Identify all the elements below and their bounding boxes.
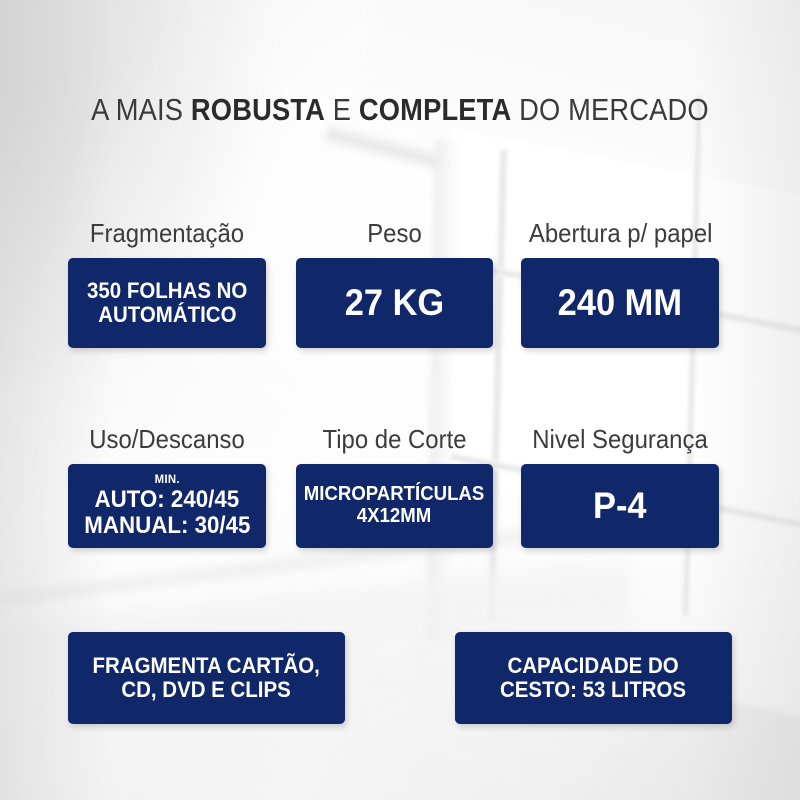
content-layer: A MAIS ROBUSTA E COMPLETA DO MERCADO Fra… — [0, 0, 800, 800]
spec-cell-nivel-seguranca: Nivel Segurança P-4 — [521, 424, 719, 548]
spec-chip-abertura-papel: 240 MM — [521, 258, 719, 348]
spec-cell-fragmenta-cartao: FRAGMENTA CARTÃO, CD, DVD E CLIPS — [68, 632, 345, 724]
spec-chip-peso: 27 KG — [296, 258, 493, 348]
spec-cell-peso: Peso 27 KG — [296, 218, 493, 348]
spec-chip-line: FRAGMENTA CARTÃO, — [93, 654, 320, 678]
spec-chip-line: 4X12MM — [357, 506, 431, 528]
spec-chip-line: AUTOMÁTICO — [98, 303, 236, 327]
spec-cell-capacidade-cesto: CAPACIDADE DO CESTO: 53 LITROS — [455, 632, 732, 724]
spec-chip-line: AUTO: 240/45 — [95, 487, 240, 513]
spec-chip-tipo-de-corte: MICROPARTÍCULAS 4X12MM — [296, 464, 493, 548]
spec-label-peso: Peso — [304, 218, 485, 249]
headline-part-2: ROBUSTA — [191, 92, 325, 127]
spec-chip-line: 240 MM — [558, 283, 682, 323]
spec-chip-line: 27 KG — [345, 283, 444, 323]
spec-cell-tipo-de-corte: Tipo de Corte MICROPARTÍCULAS 4X12MM — [296, 424, 493, 548]
spec-chip-line: CAPACIDADE DO — [508, 654, 679, 678]
spec-chip-fragmenta-cartao: FRAGMENTA CARTÃO, CD, DVD E CLIPS — [68, 632, 345, 724]
spec-chip-line: MICROPARTÍCULAS — [304, 484, 484, 506]
spec-label-uso-descanso: Uso/Descanso — [76, 424, 258, 455]
spec-label-tipo-de-corte: Tipo de Corte — [304, 424, 485, 455]
spec-chip-nivel-seguranca: P-4 — [521, 464, 719, 548]
spec-label-nivel-seguranca: Nivel Segurança — [529, 424, 711, 455]
spec-chip-fragmentacao: 350 FOLHAS NO AUTOMÁTICO — [68, 258, 266, 348]
spec-chip-line: 350 FOLHAS NO — [87, 279, 247, 303]
spec-chip-line: MANUAL: 30/45 — [84, 513, 250, 539]
spec-chip-capacidade-cesto: CAPACIDADE DO CESTO: 53 LITROS — [455, 632, 732, 724]
spec-chip-uso-descanso: MIN. AUTO: 240/45 MANUAL: 30/45 — [68, 464, 266, 548]
spec-cell-uso-descanso: Uso/Descanso MIN. AUTO: 240/45 MANUAL: 3… — [68, 424, 266, 548]
spec-chip-line: CESTO: 53 LITROS — [500, 678, 686, 702]
infographic-stage: A MAIS ROBUSTA E COMPLETA DO MERCADO Fra… — [0, 0, 800, 800]
spec-chip-line: CD, DVD E CLIPS — [122, 678, 291, 702]
headline-part-1: A MAIS — [91, 92, 191, 127]
headline-part-5: DO MERCADO — [511, 92, 708, 127]
spec-chip-line: P-4 — [593, 486, 647, 526]
spec-cell-abertura-papel: Abertura p/ papel 240 MM — [521, 218, 719, 348]
headline-part-4: COMPLETA — [359, 92, 511, 127]
spec-chip-caption-min: MIN. — [154, 473, 179, 486]
spec-cell-fragmentacao: Fragmentação 350 FOLHAS NO AUTOMÁTICO — [68, 218, 266, 348]
spec-label-fragmentacao: Fragmentação — [76, 218, 258, 249]
page-headline: A MAIS ROBUSTA E COMPLETA DO MERCADO — [48, 92, 752, 128]
headline-part-3: E — [325, 92, 359, 127]
spec-label-abertura-papel: Abertura p/ papel — [529, 218, 711, 249]
